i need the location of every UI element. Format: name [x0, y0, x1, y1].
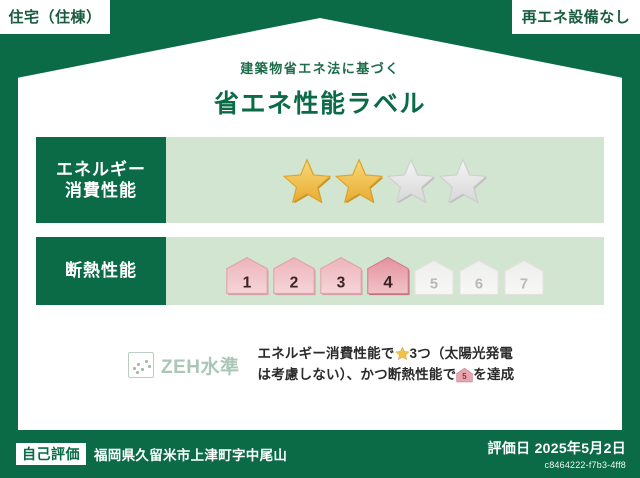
self-evaluation-badge: 自己評価 [16, 443, 86, 465]
energy-key-line1: エネルギー [56, 160, 146, 179]
zeh-description: エネルギー消費性能で3つ（太陽光発電 は考慮しない）、かつ断熱性能で5を達成 [258, 344, 515, 386]
insulation-rating: 1234567 [166, 237, 604, 305]
insulation-house-label-3: 3 [337, 274, 346, 291]
insulation-house-2: 2 [272, 255, 316, 297]
star-rating [166, 137, 604, 223]
zeh-label: ZEH水準 [161, 352, 240, 379]
insulation-house-label-7: 7 [520, 277, 528, 293]
insulation-house-3: 3 [319, 255, 363, 297]
insulation-house-5: 5 [413, 259, 455, 297]
page-title: 省エネ性能ラベル [0, 84, 640, 120]
insulation-house-4: 4 [366, 255, 410, 297]
insulation-house-label-5: 5 [430, 277, 438, 293]
tab-building-type: 住宅（住棟） [0, 0, 110, 34]
energy-key-line2: 消費性能 [65, 181, 137, 200]
zeh-note: ZEH水準 エネルギー消費性能で3つ（太陽光発電 は考慮しない）、かつ断熱性能で… [36, 336, 604, 394]
evaluation-id: c8464222-f7b3-4ff8 [487, 460, 626, 470]
title-subtitle: 建築物省エネ法に基づく [0, 58, 640, 77]
star-icon-2 [335, 157, 383, 203]
insulation-house-6: 6 [458, 259, 500, 297]
star-icon-3 [387, 157, 435, 203]
zeh-text-line2a: は考慮しない）、かつ断熱性能で [258, 367, 457, 382]
insulation-performance-row: 断熱性能 1234567 [36, 237, 604, 305]
zeh-scatter-icon [128, 352, 154, 378]
energy-performance-label: 住宅（住棟） 再エネ設備なし 建築物省エネ法に基づく 省エネ性能ラベル エネルギ… [0, 0, 640, 478]
zeh-badge: ZEH水準 [128, 352, 240, 379]
star-icon-1 [283, 157, 331, 203]
insulation-house-label-4: 4 [383, 272, 393, 291]
insulation-house-label-1: 1 [243, 274, 252, 291]
label-footer: 自己評価 福岡県久留米市上津町字中尾山 評価日 2025年5月2日 c84642… [0, 430, 640, 478]
insulation-house-label-6: 6 [475, 277, 483, 293]
evaluation-date: 評価日 2025年5月2日 [487, 438, 626, 458]
property-address: 福岡県久留米市上津町字中尾山 [94, 444, 287, 464]
footer-left: 自己評価 福岡県久留米市上津町字中尾山 [16, 443, 287, 465]
insulation-house-1: 1 [225, 255, 269, 297]
insulation-house-label-2: 2 [290, 274, 299, 291]
inline-house-badge-icon: 5 [456, 367, 473, 383]
tab-renewable-energy-label: 再エネ設備なし [522, 10, 631, 25]
star-icon-4 [439, 157, 487, 203]
tab-renewable-energy: 再エネ設備なし [512, 0, 640, 34]
svg-text:5: 5 [463, 372, 468, 381]
title-block: 建築物省エネ法に基づく 省エネ性能ラベル [0, 58, 640, 120]
tab-building-type-label: 住宅（住棟） [8, 10, 101, 25]
inline-star-icon [395, 346, 410, 361]
insulation-house-7: 7 [503, 259, 545, 297]
energy-performance-row: エネルギー 消費性能 [36, 137, 604, 223]
zeh-text-line2b: を達成 [473, 367, 514, 382]
insulation-performance-key: 断熱性能 [36, 237, 166, 305]
energy-performance-key: エネルギー 消費性能 [36, 137, 166, 223]
footer-right: 評価日 2025年5月2日 c8464222-f7b3-4ff8 [487, 438, 626, 470]
zeh-text-line1b: 3つ（太陽光発電 [410, 346, 514, 361]
zeh-text-line1a: エネルギー消費性能で [258, 346, 395, 361]
